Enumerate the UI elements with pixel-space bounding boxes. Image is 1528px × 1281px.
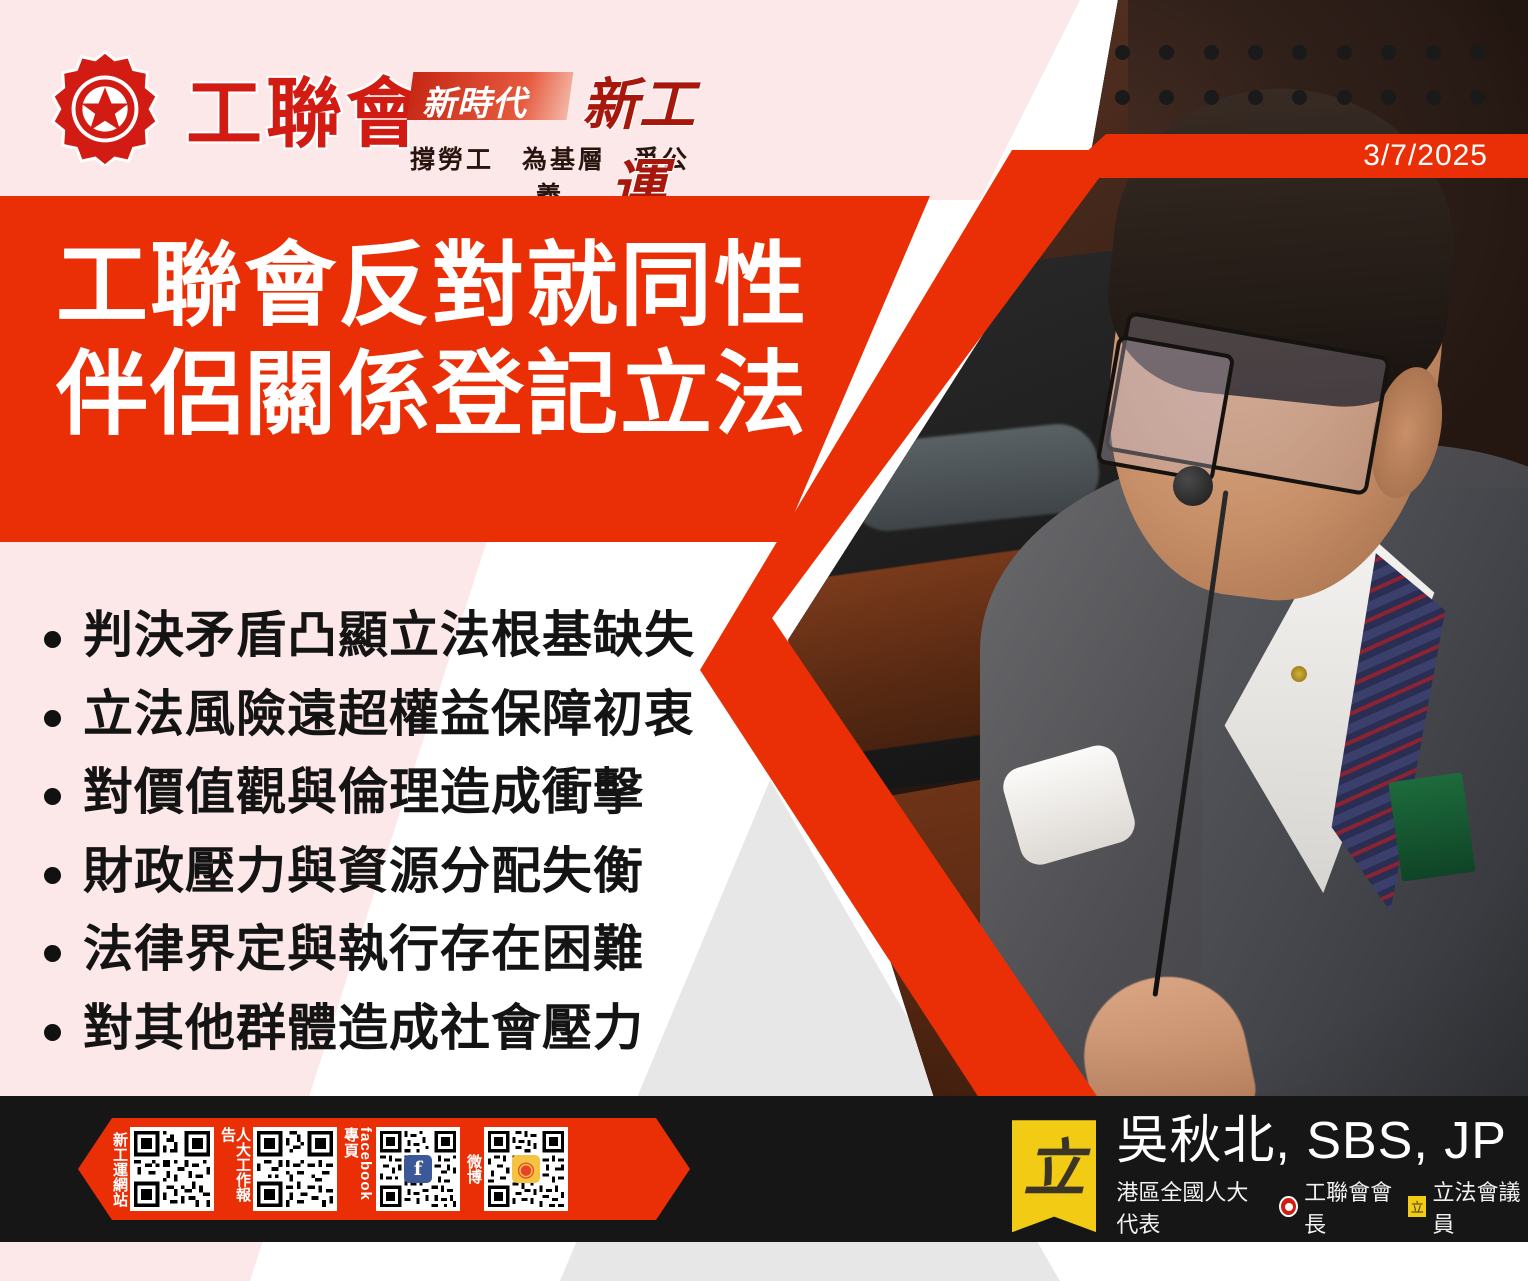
- org-name: 工聯會: [186, 52, 426, 162]
- grid-dot: [1470, 90, 1485, 105]
- grid-dot: [1204, 45, 1219, 60]
- campaign-wordmark: 新時代 新工運: [400, 58, 700, 136]
- headline-text: 工聯會反對就同性 伴侶關係登記立法: [56, 232, 956, 449]
- bullet-list: 判決矛盾凸顯立法根基缺失 立法風險遠超權益保障初衷 對價值觀與倫理造成衝擊 財政…: [44, 604, 804, 1075]
- list-item: 對其他群體造成社會壓力: [44, 997, 804, 1060]
- bullet-dot-icon: [44, 788, 61, 805]
- person-name: 吳秋北, SBS, JP: [1116, 1114, 1528, 1169]
- qr-code-icon[interactable]: [253, 1127, 337, 1211]
- li-icon: 立: [1408, 1196, 1426, 1217]
- grid-dot: [1470, 45, 1485, 60]
- qr-item-website[interactable]: 新工運網站: [112, 1127, 214, 1211]
- person-titles: 港區全國人大代表 工聯會會長 立 立法會議員: [1116, 1175, 1528, 1239]
- date-label: 3/7/2025: [1363, 139, 1488, 173]
- list-item: 判決矛盾凸顯立法根基缺失: [44, 604, 804, 667]
- qr-item-facebook[interactable]: facebook專頁: [343, 1127, 460, 1211]
- bullet-dot-icon: [44, 710, 61, 727]
- bullet-text: 法律界定與執行存在困難: [83, 918, 644, 981]
- grid-dot: [1204, 90, 1219, 105]
- grid-dot: [1248, 45, 1263, 60]
- dot-grid-decoration: [1100, 30, 1500, 120]
- qr-code-icon[interactable]: f: [376, 1127, 460, 1211]
- title-npc-label: 港區全國人大代表: [1116, 1175, 1270, 1239]
- grid-dot: [1292, 90, 1307, 105]
- bullet-dot-icon: [44, 867, 61, 884]
- bullet-text: 對價值觀與倫理造成衝擊: [83, 761, 644, 824]
- bullet-text: 立法風險遠超權益保障初衷: [83, 683, 695, 746]
- poster-canvas: 3/7/2025 工聯會 新時代 新工運 撐勞工 為基層 爭公義 工聯會反對就同…: [0, 0, 1528, 1281]
- qr-code-icon[interactable]: ◉: [484, 1127, 568, 1211]
- bullet-text: 對其他群體造成社會壓力: [83, 997, 644, 1060]
- qr-code-icon[interactable]: [130, 1127, 214, 1211]
- title-legco-label: 立法會議員: [1432, 1175, 1528, 1239]
- grid-dot: [1381, 90, 1396, 105]
- list-item: 對價值觀與倫理造成衝擊: [44, 761, 804, 824]
- title-ftu-label: 工聯會會長: [1304, 1175, 1399, 1239]
- qr-item-npc-report[interactable]: 人大工作報告: [220, 1127, 337, 1211]
- org-logo: 工聯會: [46, 48, 426, 166]
- bullet-text: 財政壓力與資源分配失衡: [83, 840, 644, 903]
- qr-label: 微博: [466, 1127, 481, 1211]
- title-ftu: 工聯會會長: [1279, 1175, 1399, 1239]
- bullet-text: 判決矛盾凸顯立法根基缺失: [83, 604, 695, 667]
- gear-star-icon: [46, 48, 164, 166]
- gear-icon: [1279, 1196, 1298, 1217]
- person-text-block: 吳秋北, SBS, JP 港區全國人大代表 工聯會會長 立 立法會議員: [1116, 1114, 1528, 1239]
- qr-code-band: 新工運網站: [78, 1118, 690, 1220]
- list-item: 立法風險遠超權益保障初衷: [44, 683, 804, 746]
- qr-item-weibo[interactable]: 微博: [466, 1127, 568, 1211]
- legco-badge-char: 立: [1023, 1138, 1085, 1200]
- grid-dot: [1159, 90, 1174, 105]
- grid-dot: [1337, 90, 1352, 105]
- grid-dot: [1292, 45, 1307, 60]
- title-legco: 立 立法會議員: [1408, 1175, 1528, 1239]
- grid-dot: [1248, 90, 1263, 105]
- qr-label: facebook專頁: [343, 1127, 373, 1211]
- grid-dot: [1426, 90, 1441, 105]
- weibo-icon: ◉: [512, 1155, 540, 1183]
- bullet-dot-icon: [44, 1024, 61, 1041]
- grid-dot: [1337, 45, 1352, 60]
- list-item: 財政壓力與資源分配失衡: [44, 840, 804, 903]
- grid-dot: [1381, 45, 1396, 60]
- qr-label: 人大工作報告: [220, 1127, 250, 1211]
- grid-dot: [1159, 45, 1174, 60]
- grid-dot: [1115, 45, 1130, 60]
- title-npc: 港區全國人大代表: [1116, 1175, 1270, 1239]
- grid-dot: [1115, 90, 1130, 105]
- bullet-dot-icon: [44, 631, 61, 648]
- list-item: 法律界定與執行存在困難: [44, 918, 804, 981]
- campaign-lockup: 新時代 新工運 撐勞工 為基層 爭公義: [400, 58, 700, 212]
- grid-dot: [1426, 45, 1441, 60]
- person-identity: 立 吳秋北, SBS, JP 港區全國人大代表 工聯會會長 立 立法會議員: [1012, 1114, 1528, 1239]
- legco-badge-icon: 立: [1012, 1120, 1096, 1232]
- campaign-era-text: 新時代: [422, 76, 527, 125]
- bullet-dot-icon: [44, 945, 61, 962]
- facebook-icon: f: [404, 1155, 432, 1183]
- qr-label: 新工運網站: [112, 1127, 127, 1211]
